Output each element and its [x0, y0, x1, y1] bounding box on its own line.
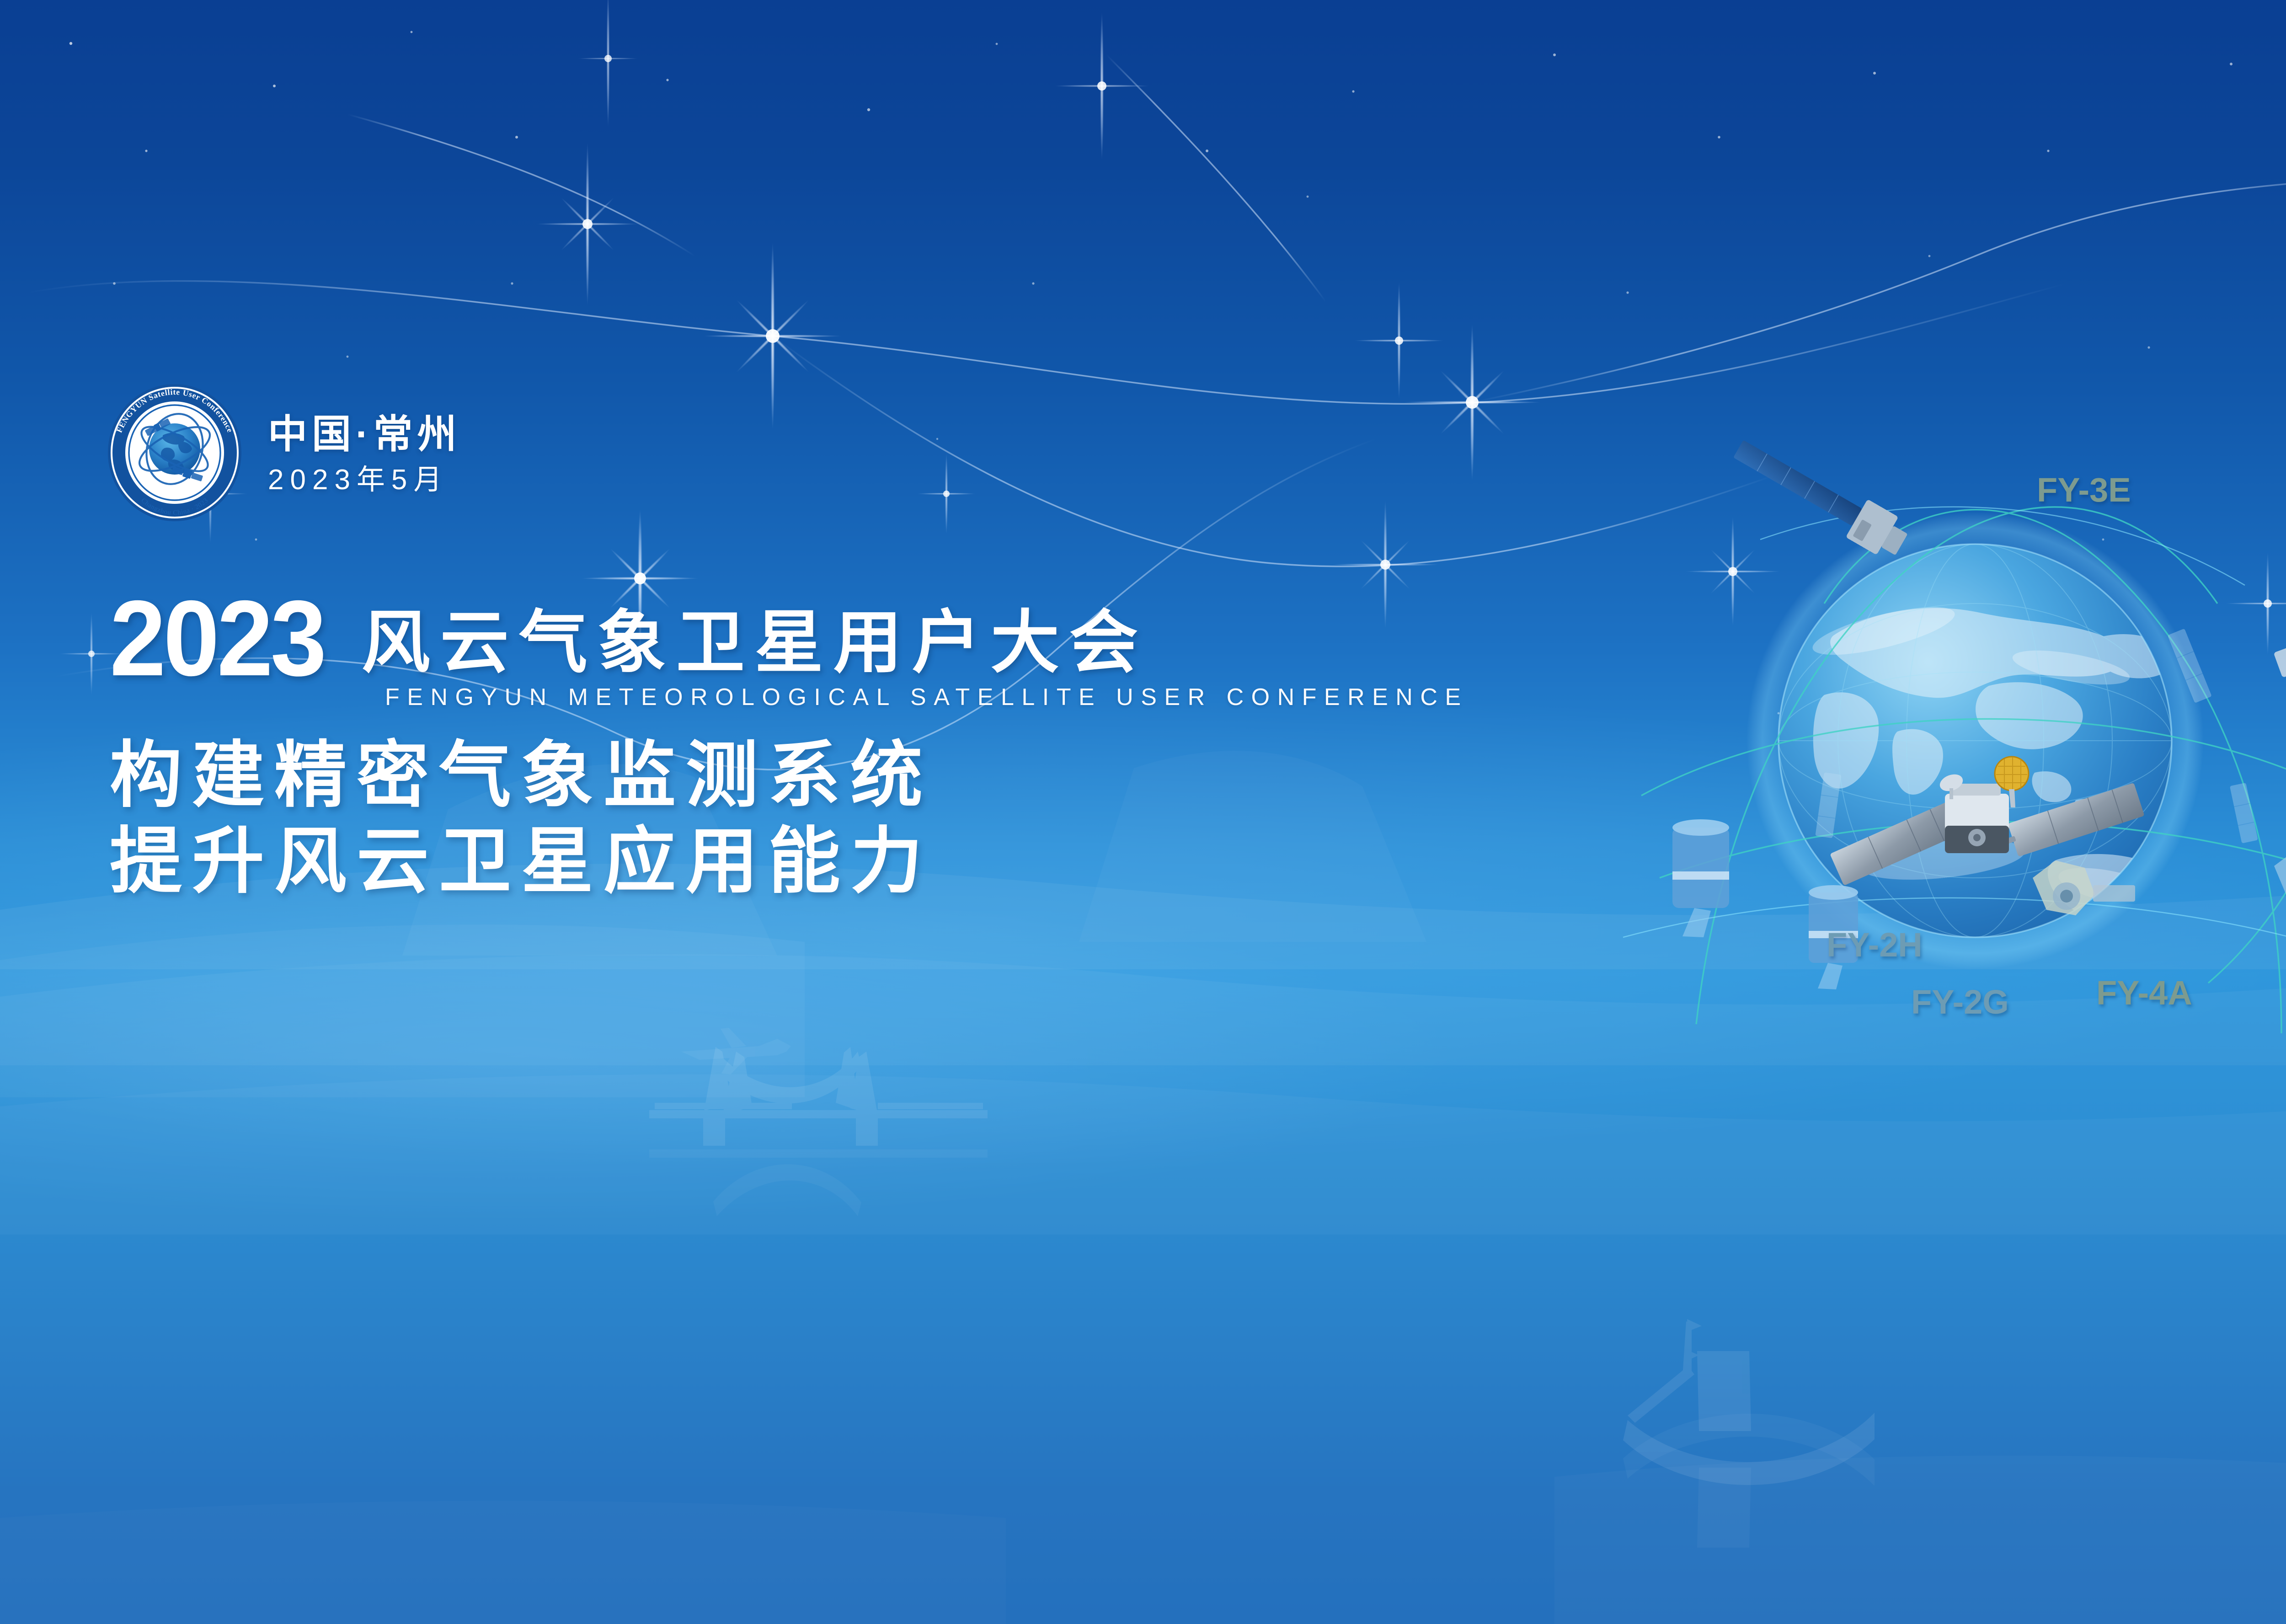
title-english: FENGYUN METEOROLOGICAL SATELLITE USER CO…: [385, 685, 1664, 709]
satellite-fy-3e: [1727, 431, 1913, 563]
title-year: 2023: [110, 594, 324, 683]
satellite-fy-3d: [2274, 639, 2286, 745]
boat-watermark-reflection: [1623, 1414, 1875, 1548]
venue-city: 中国·常州: [268, 415, 461, 454]
satellite-label-fy-4a: FY-4A: [2096, 976, 2192, 1010]
venue-date: 2023年5月: [268, 466, 461, 494]
slogan-line-2: 提升风云卫星应用能力: [110, 815, 1664, 908]
title-chinese: 风云气象卫星用户大会: [362, 610, 1148, 683]
slogan-line-1: 构建精密气象监测系统: [110, 729, 1664, 822]
satellite-fy-2h: [1672, 819, 1729, 937]
satellite-constellation-scene: FY-3E FY-3C FY-3D FY-3G FY-2H FY-2G FY-4…: [1504, 347, 2286, 1152]
conference-poster: FENGYUN Satellite User Conference Changz…: [0, 0, 2286, 1624]
title-row: 2023 风云气象卫星用户大会: [110, 594, 1664, 683]
headline-block: 2023 风云气象卫星用户大会 FENGYUN METEOROLOGICAL S…: [110, 594, 1664, 908]
conference-emblem-icon: FENGYUN Satellite User Conference Changz…: [106, 384, 243, 521]
venue-block: 中国·常州 2023年5月: [268, 411, 461, 494]
satellite-label-fy-2g: FY-2G: [1911, 985, 2009, 1019]
conference-identity-block: FENGYUN Satellite User Conference Changz…: [106, 384, 461, 521]
satellite-label-fy-3e: FY-3E: [2037, 473, 2131, 507]
satellite-label-fy-2h: FY-2H: [1827, 928, 1923, 962]
boat-watermark: [1623, 1319, 1875, 1485]
